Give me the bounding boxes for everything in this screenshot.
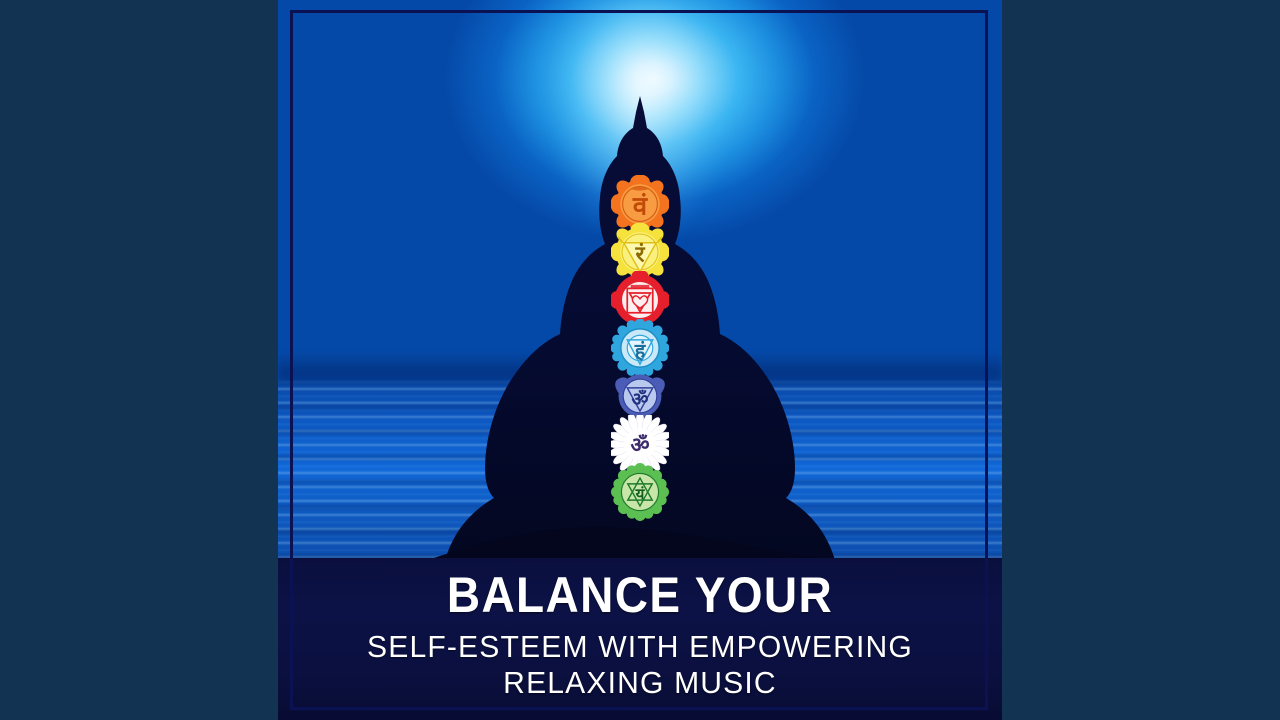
title-line-1: BALANCE YOUR (307, 570, 973, 621)
screenshot-canvas: वं (0, 0, 1280, 720)
chakra-glyph: वं (632, 191, 648, 221)
title-line-2: SELF-ESTEEM WITH EMPOWERING (289, 629, 991, 666)
chakra-glyph: यं (635, 485, 646, 503)
chakra-anahata-heart-chakra: यं (611, 463, 669, 521)
chakra-column: वं (600, 175, 680, 511)
letterbox-left (0, 0, 278, 720)
album-title-block: BALANCE YOUR SELF-ESTEEM WITH EMPOWERING… (278, 570, 1002, 702)
letterbox-right (1002, 0, 1280, 720)
chakra-glyph: ॐ (632, 389, 649, 410)
title-line-3: RELAXING MUSIC (289, 665, 991, 702)
album-artwork: वं (278, 0, 1002, 720)
chakra-glyph: रं (634, 242, 645, 267)
chakra-glyph: हं (634, 339, 647, 362)
chakra-glyph: ॐ (630, 433, 649, 457)
